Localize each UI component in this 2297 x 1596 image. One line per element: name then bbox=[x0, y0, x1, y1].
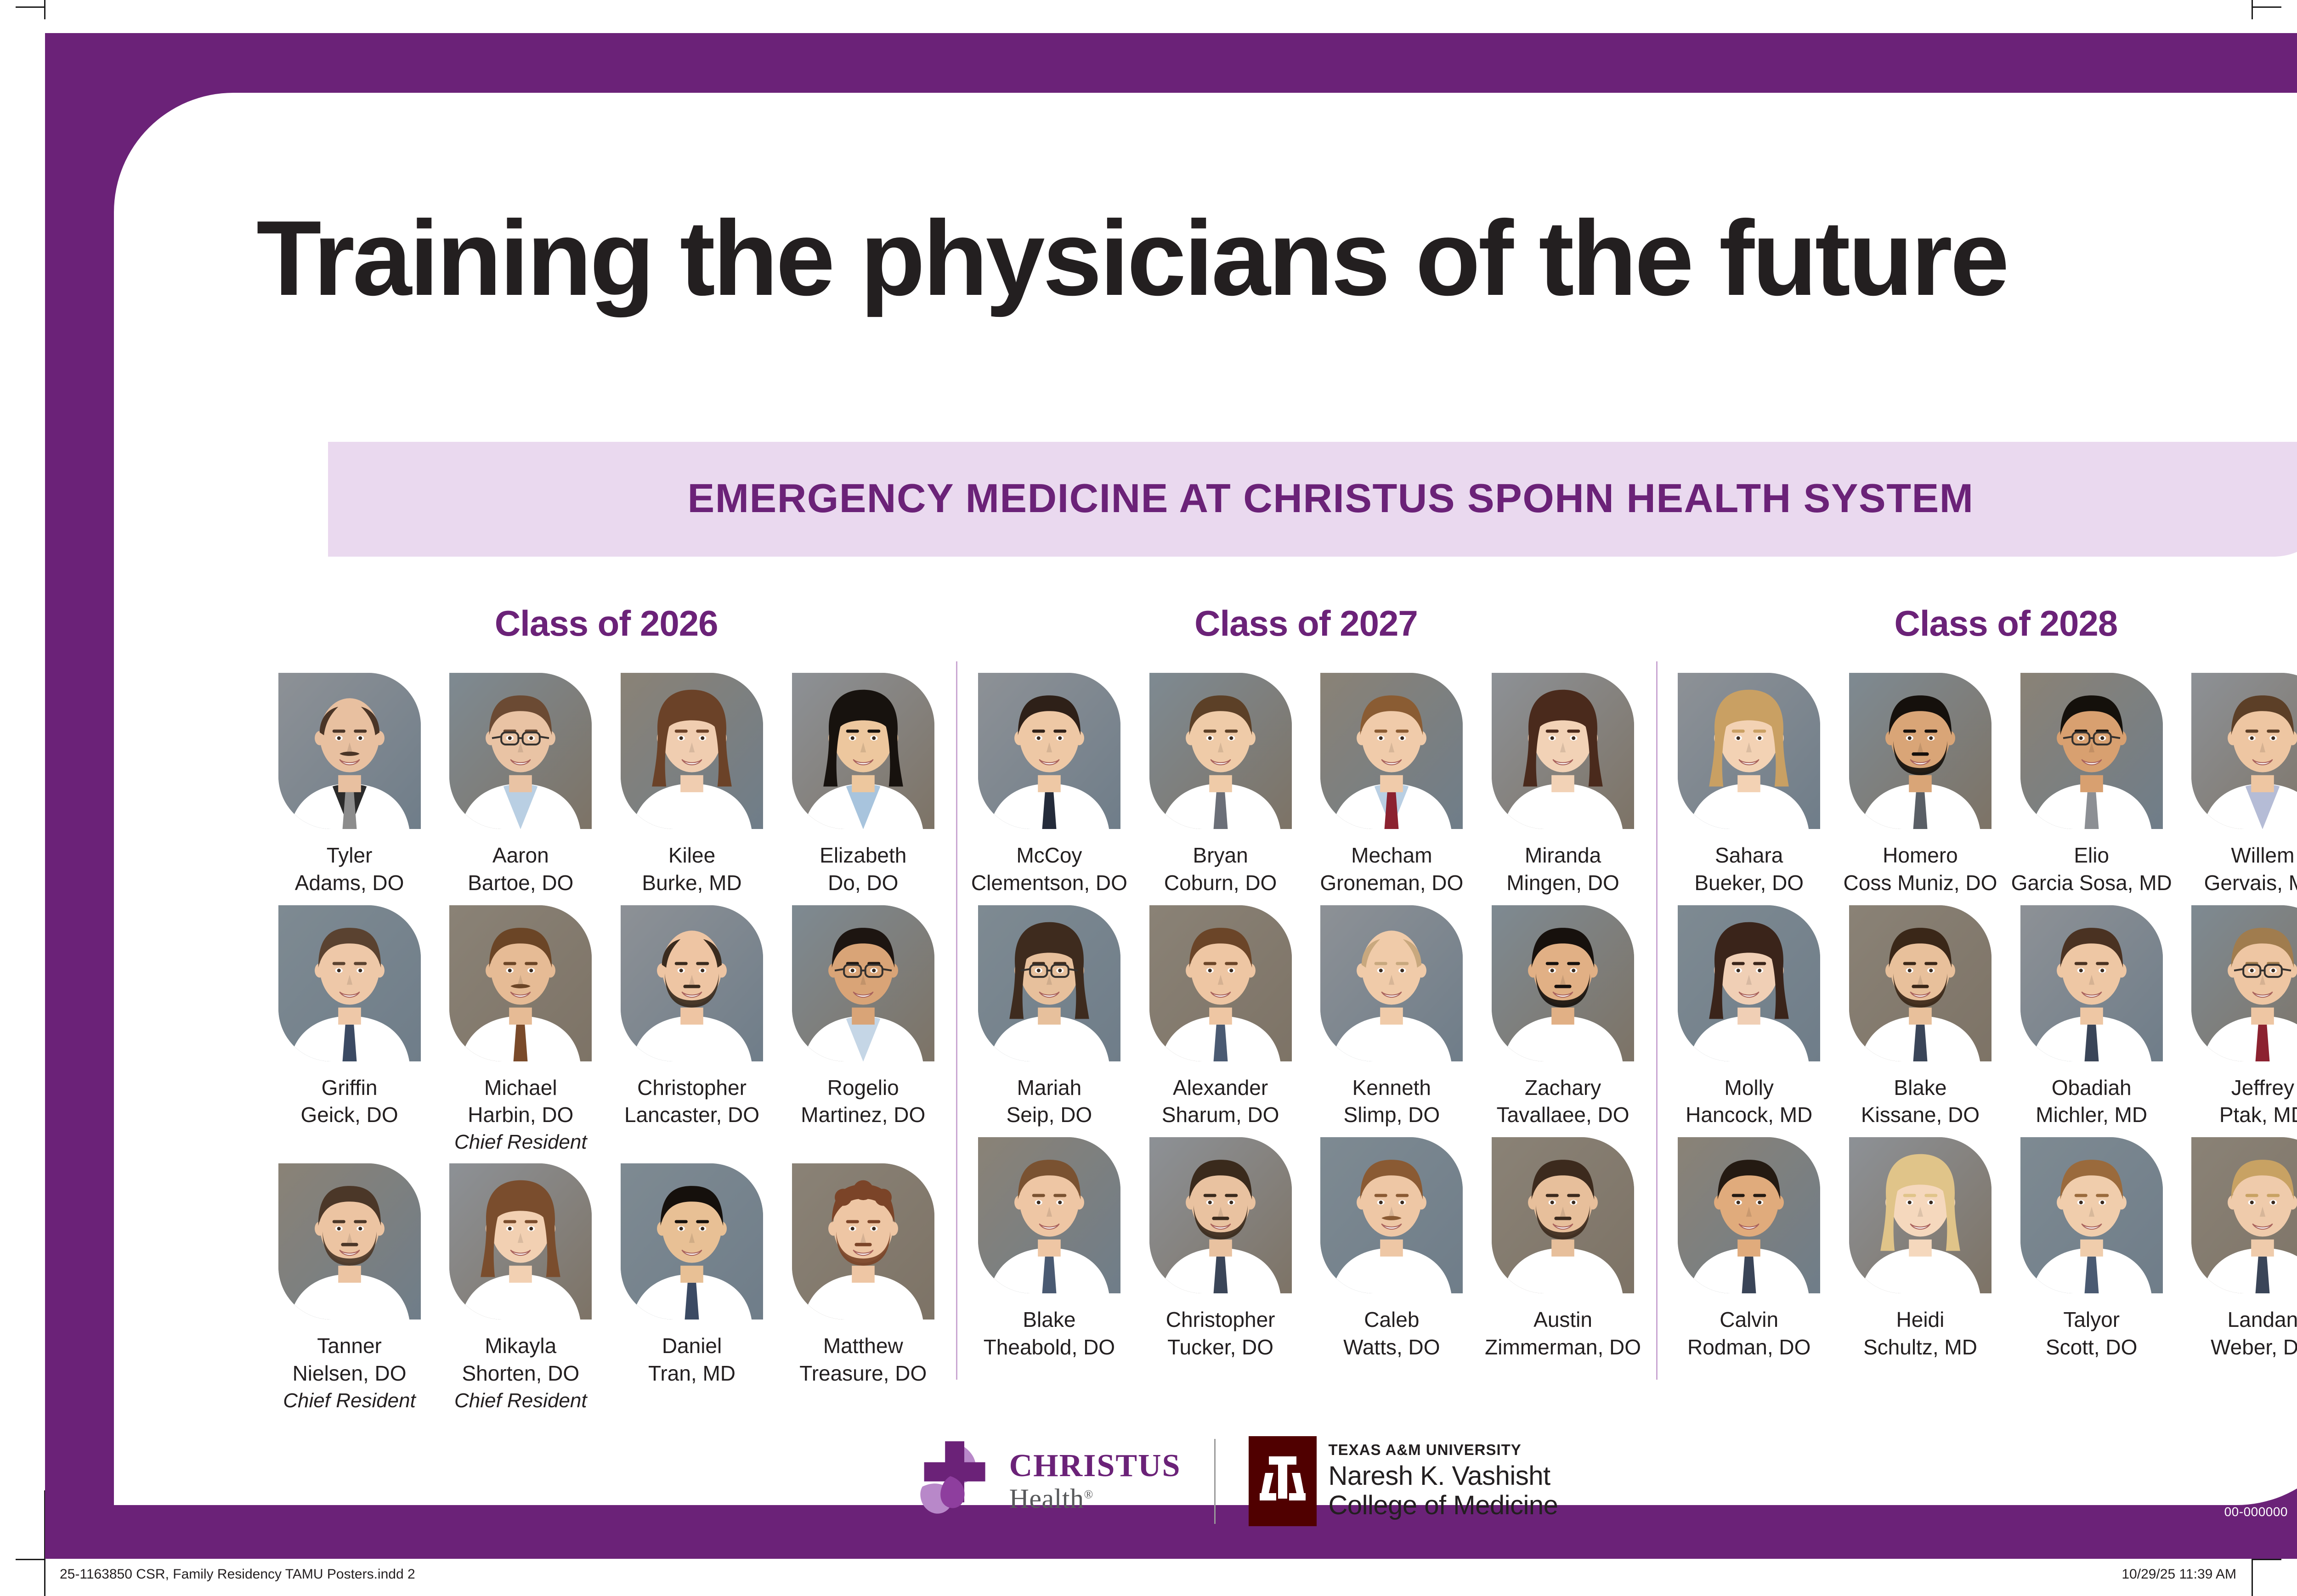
resident-card: TalyorScott, DO bbox=[2010, 1137, 2173, 1361]
resident-name: AaronBartoe, DO bbox=[468, 842, 573, 897]
resident-first-name: Mariah bbox=[1007, 1074, 1092, 1102]
resident-card: KennethSlimp, DO bbox=[1311, 905, 1473, 1129]
resident-last-name: Burke, MD bbox=[642, 869, 741, 897]
poster-plate: 00-000000 Training the physicians of the… bbox=[45, 33, 2297, 1559]
resident-first-name: Talyor bbox=[2046, 1306, 2137, 1334]
resident-photo bbox=[978, 905, 1120, 1061]
resident-photo bbox=[792, 1163, 934, 1320]
resident-card: ObadiahMichler, MD bbox=[2010, 905, 2173, 1129]
resident-first-name: Jeffrey bbox=[2219, 1074, 2297, 1102]
resident-first-name: Austin bbox=[1485, 1306, 1641, 1334]
resident-photo bbox=[1849, 673, 1991, 829]
resident-card: MollyHancock, MD bbox=[1668, 905, 1830, 1129]
resident-name: LandanWeber, DO bbox=[2211, 1306, 2297, 1361]
resident-card: RogelioMartinez, DO bbox=[782, 905, 944, 1156]
resident-photo bbox=[1320, 1137, 1463, 1293]
resident-photo bbox=[2020, 905, 2163, 1061]
resident-first-name: Blake bbox=[984, 1306, 1115, 1334]
resident-card: TannerNielsen, DOChief Resident bbox=[268, 1163, 430, 1414]
resident-last-name: Hancock, MD bbox=[1686, 1101, 1812, 1129]
resident-row: McCoyClementson, DOBryanCoburn, DOMecham… bbox=[968, 673, 1644, 897]
resident-card: CalebWatts, DO bbox=[1311, 1137, 1473, 1361]
resident-photo bbox=[978, 1137, 1120, 1293]
resident-first-name: Heidi bbox=[1863, 1306, 1977, 1334]
crop-mark-top-left-horizontal bbox=[16, 6, 44, 8]
resident-last-name: Sharum, DO bbox=[1162, 1101, 1279, 1129]
resident-role: Chief Resident bbox=[454, 1387, 587, 1414]
resident-last-name: Coss Muniz, DO bbox=[1844, 869, 1997, 897]
resident-first-name: Tyler bbox=[295, 842, 404, 869]
resident-card: HeidiSchultz, MD bbox=[1839, 1137, 2001, 1361]
tamu-university-label: TEXAS A&M UNIVERSITY bbox=[1329, 1442, 1558, 1459]
crop-mark-top-right-vertical bbox=[2252, 0, 2253, 19]
resident-photo bbox=[449, 1163, 592, 1320]
crop-mark-bottom-right-horizontal bbox=[2253, 1559, 2281, 1560]
resident-last-name: Scott, DO bbox=[2046, 1334, 2137, 1361]
class-columns: Class of 2026TylerAdams, DOAaronBartoe, … bbox=[256, 603, 2297, 1393]
resident-row: TannerNielsen, DOChief ResidentMikaylaSh… bbox=[268, 1163, 944, 1414]
resident-role: Chief Resident bbox=[283, 1387, 416, 1414]
resident-photo bbox=[621, 905, 763, 1061]
tamu-benefactor-name: Naresh K. Vashisht bbox=[1329, 1461, 1558, 1491]
resident-name: GriffinGeick, DO bbox=[300, 1074, 398, 1129]
resident-name: MichaelHarbin, DO bbox=[468, 1074, 573, 1129]
resident-card: MariahSeip, DO bbox=[968, 905, 1130, 1129]
resident-card: BlakeTheabold, DO bbox=[968, 1137, 1130, 1361]
resident-first-name: Miranda bbox=[1506, 842, 1619, 869]
resident-first-name: Kilee bbox=[642, 842, 741, 869]
resident-last-name: Tavallaee, DO bbox=[1497, 1101, 1629, 1129]
resident-first-name: Zachary bbox=[1497, 1074, 1629, 1102]
resident-photo bbox=[1678, 905, 1820, 1061]
resident-name: TalyorScott, DO bbox=[2046, 1306, 2137, 1361]
resident-photo bbox=[1492, 1137, 1634, 1293]
resident-name: AlexanderSharum, DO bbox=[1162, 1074, 1279, 1129]
resident-name: ChristopherLancaster, DO bbox=[624, 1074, 759, 1129]
resident-first-name: Sahara bbox=[1694, 842, 1804, 869]
resident-first-name: Tanner bbox=[293, 1332, 407, 1360]
resident-last-name: Groneman, DO bbox=[1320, 869, 1463, 897]
resident-row: MariahSeip, DOAlexanderSharum, DOKenneth… bbox=[968, 905, 1644, 1129]
resident-photo bbox=[792, 905, 934, 1061]
resident-first-name: Matthew bbox=[799, 1332, 927, 1360]
resident-photo bbox=[2020, 673, 2163, 829]
resident-photo bbox=[1849, 1137, 1991, 1293]
resident-photo bbox=[2020, 1137, 2163, 1293]
christus-cross-icon bbox=[912, 1437, 999, 1526]
resident-last-name: Adams, DO bbox=[295, 869, 404, 897]
resident-last-name: Garcia Sosa, MD bbox=[2011, 869, 2172, 897]
footer-logos: CHRISTUS Health® TEXAS A&M UNIVERSITY bbox=[114, 1436, 2297, 1526]
resident-photo bbox=[449, 673, 592, 829]
resident-photo bbox=[2191, 673, 2297, 829]
resident-card: AustinZimmerman, DO bbox=[1482, 1137, 1644, 1361]
resident-name: MechamGroneman, DO bbox=[1320, 842, 1463, 897]
resident-last-name: Kissane, DO bbox=[1861, 1101, 1980, 1129]
resident-first-name: Mikayla bbox=[462, 1332, 579, 1360]
resident-name: KennethSlimp, DO bbox=[1344, 1074, 1440, 1129]
resident-last-name: Rodman, DO bbox=[1687, 1334, 1810, 1361]
resident-first-name: Griffin bbox=[300, 1074, 398, 1102]
resident-first-name: Michael bbox=[468, 1074, 573, 1102]
resident-name: HomeroCoss Muniz, DO bbox=[1844, 842, 1997, 897]
resident-last-name: Weber, DO bbox=[2211, 1334, 2297, 1361]
resident-card: CalvinRodman, DO bbox=[1668, 1137, 1830, 1361]
resident-photo bbox=[1678, 1137, 1820, 1293]
resident-first-name: McCoy bbox=[971, 842, 1127, 869]
resident-first-name: Kenneth bbox=[1344, 1074, 1440, 1102]
subtitle-banner-text: EMERGENCY MEDICINE AT CHRISTUS SPOHN HEA… bbox=[328, 475, 2297, 522]
resident-row: TylerAdams, DOAaronBartoe, DOKileeBurke,… bbox=[268, 673, 944, 897]
resident-name: RogelioMartinez, DO bbox=[801, 1074, 925, 1129]
resident-first-name: Elizabeth bbox=[820, 842, 906, 869]
resident-last-name: Bueker, DO bbox=[1694, 869, 1804, 897]
resident-first-name: Landan bbox=[2211, 1306, 2297, 1334]
resident-name: ChristopherTucker, DO bbox=[1166, 1306, 1275, 1361]
print-slug-left: 25-1163850 CSR, Family Residency TAMU Po… bbox=[60, 1567, 415, 1582]
crop-mark-top-right-horizontal bbox=[2253, 6, 2281, 8]
resident-first-name: Christopher bbox=[1166, 1306, 1275, 1334]
resident-name: AustinZimmerman, DO bbox=[1485, 1306, 1641, 1361]
resident-name: BlakeKissane, DO bbox=[1861, 1074, 1980, 1129]
resident-last-name: Coburn, DO bbox=[1164, 869, 1277, 897]
resident-card: LandanWeber, DO bbox=[2182, 1137, 2297, 1361]
resident-first-name: Alexander bbox=[1162, 1074, 1279, 1102]
resident-last-name: Mingen, DO bbox=[1506, 869, 1619, 897]
resident-name: BlakeTheabold, DO bbox=[984, 1306, 1115, 1361]
resident-card: ZacharyTavallaee, DO bbox=[1482, 905, 1644, 1129]
resident-card: HomeroCoss Muniz, DO bbox=[1839, 673, 2001, 897]
resident-last-name: Shorten, DO bbox=[462, 1360, 579, 1387]
resident-photo bbox=[278, 673, 421, 829]
resident-first-name: Elio bbox=[2011, 842, 2172, 869]
resident-photo bbox=[278, 905, 421, 1061]
resident-first-name: Aaron bbox=[468, 842, 573, 869]
resident-last-name: Slimp, DO bbox=[1344, 1101, 1440, 1129]
resident-name: TylerAdams, DO bbox=[295, 842, 404, 897]
christus-wordmark-top: CHRISTUS bbox=[1009, 1450, 1181, 1482]
resident-photo bbox=[278, 1163, 421, 1320]
resident-name: BryanCoburn, DO bbox=[1164, 842, 1277, 897]
resident-photo bbox=[449, 905, 592, 1061]
class-column: Class of 2028SaharaBueker, DOHomeroCoss … bbox=[1656, 603, 2297, 1393]
resident-name: ElioGarcia Sosa, MD bbox=[2011, 842, 2172, 897]
poster-card: Training the physicians of the future EM… bbox=[114, 93, 2297, 1505]
resident-card: McCoyClementson, DO bbox=[968, 673, 1130, 897]
resident-first-name: Bryan bbox=[1164, 842, 1277, 869]
resident-photo bbox=[2191, 1137, 2297, 1293]
resident-role: Chief Resident bbox=[454, 1129, 587, 1155]
resident-last-name: Geick, DO bbox=[300, 1101, 398, 1129]
resident-first-name: Caleb bbox=[1343, 1306, 1440, 1334]
resident-last-name: Seip, DO bbox=[1007, 1101, 1092, 1129]
resident-card: WillemGervais, MD bbox=[2182, 673, 2297, 897]
resident-last-name: Zimmerman, DO bbox=[1485, 1334, 1641, 1361]
resident-name: MollyHancock, MD bbox=[1686, 1074, 1812, 1129]
resident-name: ZacharyTavallaee, DO bbox=[1497, 1074, 1629, 1129]
resident-row: SaharaBueker, DOHomeroCoss Muniz, DOElio… bbox=[1668, 673, 2297, 897]
texas-am-college-of-medicine-logo: TEXAS A&M UNIVERSITY Naresh K. Vashisht … bbox=[1216, 1436, 1558, 1526]
resident-name: DanielTran, MD bbox=[648, 1332, 735, 1387]
resident-card: MichaelHarbin, DOChief Resident bbox=[440, 905, 602, 1156]
resident-name: KileeBurke, MD bbox=[642, 842, 741, 897]
resident-photo bbox=[792, 673, 934, 829]
resident-card: GriffinGeick, DO bbox=[268, 905, 430, 1156]
resident-card: ChristopherLancaster, DO bbox=[611, 905, 773, 1156]
resident-name: CalebWatts, DO bbox=[1343, 1306, 1440, 1361]
resident-card: BryanCoburn, DO bbox=[1139, 673, 1301, 897]
resident-photo bbox=[978, 673, 1120, 829]
resident-card: TylerAdams, DO bbox=[268, 673, 430, 897]
resident-photo bbox=[1678, 673, 1820, 829]
resident-card: KileeBurke, MD bbox=[611, 673, 773, 897]
resident-card: MirandaMingen, DO bbox=[1482, 673, 1644, 897]
resident-name: MirandaMingen, DO bbox=[1506, 842, 1619, 897]
christus-wordmark-bottom: Health® bbox=[1009, 1485, 1181, 1512]
resident-first-name: Homero bbox=[1844, 842, 1997, 869]
resident-name: ObadiahMichler, MD bbox=[2036, 1074, 2147, 1129]
resident-card: BlakeKissane, DO bbox=[1839, 905, 2001, 1129]
class-column: Class of 2026TylerAdams, DOAaronBartoe, … bbox=[256, 603, 956, 1393]
resident-row: BlakeTheabold, DOChristopherTucker, DOCa… bbox=[968, 1137, 1644, 1361]
resident-first-name: Christopher bbox=[624, 1074, 759, 1102]
resident-name: MikaylaShorten, DO bbox=[462, 1332, 579, 1387]
resident-name: WillemGervais, MD bbox=[2204, 842, 2297, 897]
resident-last-name: Theabold, DO bbox=[984, 1334, 1115, 1361]
resident-last-name: Martinez, DO bbox=[801, 1101, 925, 1129]
resident-card: ElioGarcia Sosa, MD bbox=[2010, 673, 2173, 897]
resident-last-name: Treasure, DO bbox=[799, 1360, 927, 1387]
resident-card: JeffreyPtak, MD bbox=[2182, 905, 2297, 1129]
resident-photo bbox=[1149, 1137, 1292, 1293]
resident-card: ChristopherTucker, DO bbox=[1139, 1137, 1301, 1361]
resident-name: TannerNielsen, DO bbox=[293, 1332, 407, 1387]
resident-last-name: Michler, MD bbox=[2036, 1101, 2147, 1129]
resident-photo bbox=[1492, 905, 1634, 1061]
resident-last-name: Schultz, MD bbox=[1863, 1334, 1977, 1361]
christus-health-logo: CHRISTUS Health® bbox=[912, 1437, 1214, 1526]
resident-last-name: Lancaster, DO bbox=[624, 1101, 759, 1129]
resident-first-name: Blake bbox=[1861, 1074, 1980, 1102]
resident-last-name: Nielsen, DO bbox=[293, 1360, 407, 1387]
resident-photo bbox=[1149, 673, 1292, 829]
resident-name: HeidiSchultz, MD bbox=[1863, 1306, 1977, 1361]
class-title: Class of 2028 bbox=[1668, 603, 2297, 644]
resident-name: JeffreyPtak, MD bbox=[2219, 1074, 2297, 1129]
resident-name: MatthewTreasure, DO bbox=[799, 1332, 927, 1387]
resident-photo bbox=[1849, 905, 1991, 1061]
resident-card: AaronBartoe, DO bbox=[440, 673, 602, 897]
resident-card: SaharaBueker, DO bbox=[1668, 673, 1830, 897]
crop-mark-top-left-vertical bbox=[44, 0, 45, 19]
crop-mark-bottom-left-horizontal bbox=[16, 1559, 44, 1560]
resident-photo bbox=[1320, 673, 1463, 829]
resident-first-name: Calvin bbox=[1687, 1306, 1810, 1334]
resident-photo bbox=[1149, 905, 1292, 1061]
resident-name: McCoyClementson, DO bbox=[971, 842, 1127, 897]
class-title: Class of 2027 bbox=[968, 603, 1644, 644]
resident-photo bbox=[621, 1163, 763, 1320]
resident-card: MechamGroneman, DO bbox=[1311, 673, 1473, 897]
resident-first-name: Daniel bbox=[648, 1332, 735, 1360]
resident-last-name: Clementson, DO bbox=[971, 869, 1127, 897]
resident-card: DanielTran, MD bbox=[611, 1163, 773, 1414]
resident-last-name: Ptak, MD bbox=[2219, 1101, 2297, 1129]
resident-card: MikaylaShorten, DOChief Resident bbox=[440, 1163, 602, 1414]
resident-first-name: Obadiah bbox=[2036, 1074, 2147, 1102]
resident-row: CalvinRodman, DOHeidiSchultz, MDTalyorSc… bbox=[1668, 1137, 2297, 1361]
class-column: Class of 2027McCoyClementson, DOBryanCob… bbox=[956, 603, 1656, 1393]
resident-first-name: Molly bbox=[1686, 1074, 1812, 1102]
resident-photo bbox=[1320, 905, 1463, 1061]
resident-card: MatthewTreasure, DO bbox=[782, 1163, 944, 1414]
resident-photo bbox=[621, 673, 763, 829]
resident-name: ElizabethDo, DO bbox=[820, 842, 906, 897]
tamu-college-label: College of Medicine bbox=[1329, 1491, 1558, 1521]
resident-name: SaharaBueker, DO bbox=[1694, 842, 1804, 897]
registered-mark-icon: ® bbox=[1084, 1488, 1093, 1501]
resident-last-name: Gervais, MD bbox=[2204, 869, 2297, 897]
resident-last-name: Watts, DO bbox=[1343, 1334, 1440, 1361]
resident-card: AlexanderSharum, DO bbox=[1139, 905, 1301, 1129]
texas-am-shield-icon bbox=[1249, 1436, 1317, 1526]
resident-last-name: Bartoe, DO bbox=[468, 869, 573, 897]
resident-card: ElizabethDo, DO bbox=[782, 673, 944, 897]
resident-last-name: Harbin, DO bbox=[468, 1101, 573, 1129]
resident-photo bbox=[1492, 673, 1634, 829]
page-title: Training the physicians of the future bbox=[256, 205, 2278, 312]
resident-row: GriffinGeick, DOMichaelHarbin, DOChief R… bbox=[268, 905, 944, 1156]
resident-first-name: Mecham bbox=[1320, 842, 1463, 869]
print-slug-right: 10/29/25 11:39 AM bbox=[2122, 1567, 2236, 1582]
resident-last-name: Tran, MD bbox=[648, 1360, 735, 1387]
resident-last-name: Do, DO bbox=[820, 869, 906, 897]
subtitle-banner: EMERGENCY MEDICINE AT CHRISTUS SPOHN HEA… bbox=[328, 442, 2297, 557]
resident-name: CalvinRodman, DO bbox=[1687, 1306, 1810, 1361]
resident-name: MariahSeip, DO bbox=[1007, 1074, 1092, 1129]
class-title: Class of 2026 bbox=[268, 603, 944, 644]
resident-row: MollyHancock, MDBlakeKissane, DOObadiahM… bbox=[1668, 905, 2297, 1129]
resident-first-name: Rogelio bbox=[801, 1074, 925, 1102]
resident-first-name: Willem bbox=[2204, 842, 2297, 869]
resident-last-name: Tucker, DO bbox=[1166, 1334, 1275, 1361]
resident-photo bbox=[2191, 905, 2297, 1061]
